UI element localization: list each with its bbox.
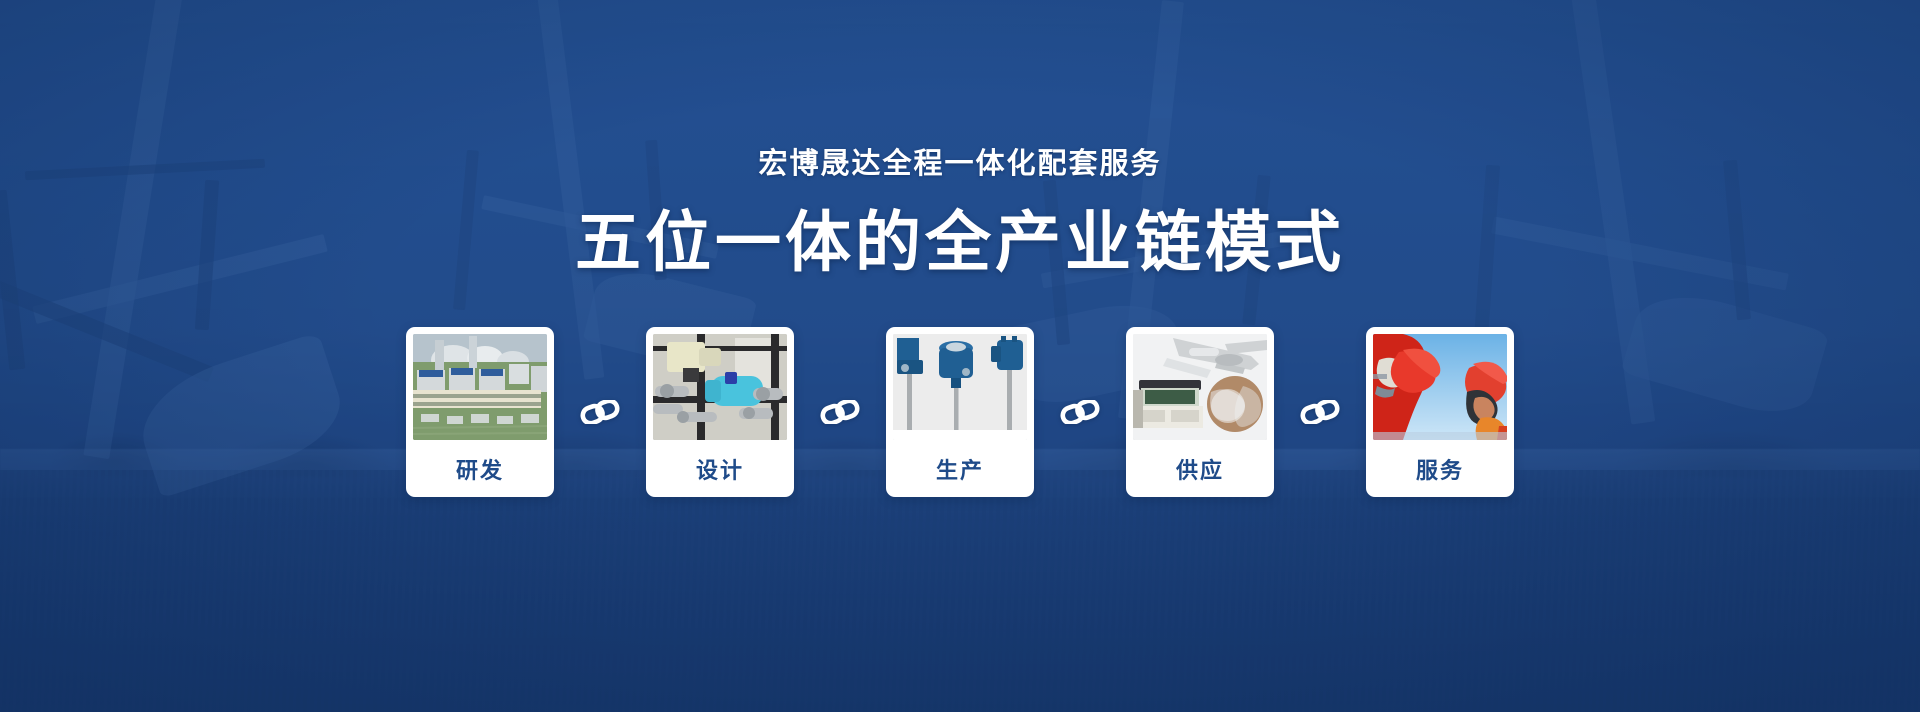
chain-link-icon [1059, 400, 1101, 424]
banner-content: 宏博晟达全程一体化配套服务 五位一体的全产业链模式 [0, 0, 1920, 712]
chain-connector-1 [554, 400, 646, 424]
chain-link-icon [819, 400, 861, 424]
chain-card-label-supply: 供应 [1133, 440, 1267, 497]
chain-card-image-design [653, 334, 787, 440]
chain-card-image-service [1373, 334, 1507, 440]
chain-link-icon [1299, 400, 1341, 424]
field-service-workers-icon [1373, 334, 1507, 440]
chain-connector-4 [1274, 400, 1366, 424]
chain-card-image-production [893, 334, 1027, 440]
banner-title: 五位一体的全产业链模式 [575, 209, 1345, 275]
chain-card-label-design: 设计 [653, 440, 787, 497]
chain-card-supply[interactable]: 供应 [1126, 327, 1274, 497]
chain-card-label-service: 服务 [1373, 440, 1507, 497]
chain-card-research[interactable]: 研发 [406, 327, 554, 497]
chain-connector-2 [794, 400, 886, 424]
logistics-plane-truck-globe-icon [1133, 334, 1267, 440]
cad-pump-render-icon [653, 334, 787, 440]
banner-subtitle: 宏博晟达全程一体化配套服务 [758, 150, 1161, 179]
chain-card-label-research: 研发 [413, 440, 547, 497]
value-chain-row: 研发 [406, 327, 1514, 497]
chain-card-service[interactable]: 服务 [1366, 327, 1514, 497]
chain-card-design[interactable]: 设计 [646, 327, 794, 497]
chain-link-icon [579, 400, 621, 424]
chain-card-label-production: 生产 [893, 440, 1027, 497]
chain-card-production[interactable]: 生产 [886, 327, 1034, 497]
chain-card-image-supply [1133, 334, 1267, 440]
level-transmitter-product-icon [893, 334, 1027, 440]
chain-connector-3 [1034, 400, 1126, 424]
industrial-plant-photo-icon [413, 334, 547, 440]
chain-card-image-research [413, 334, 547, 440]
hero-banner: 宏博晟达全程一体化配套服务 五位一体的全产业链模式 [0, 0, 1920, 712]
